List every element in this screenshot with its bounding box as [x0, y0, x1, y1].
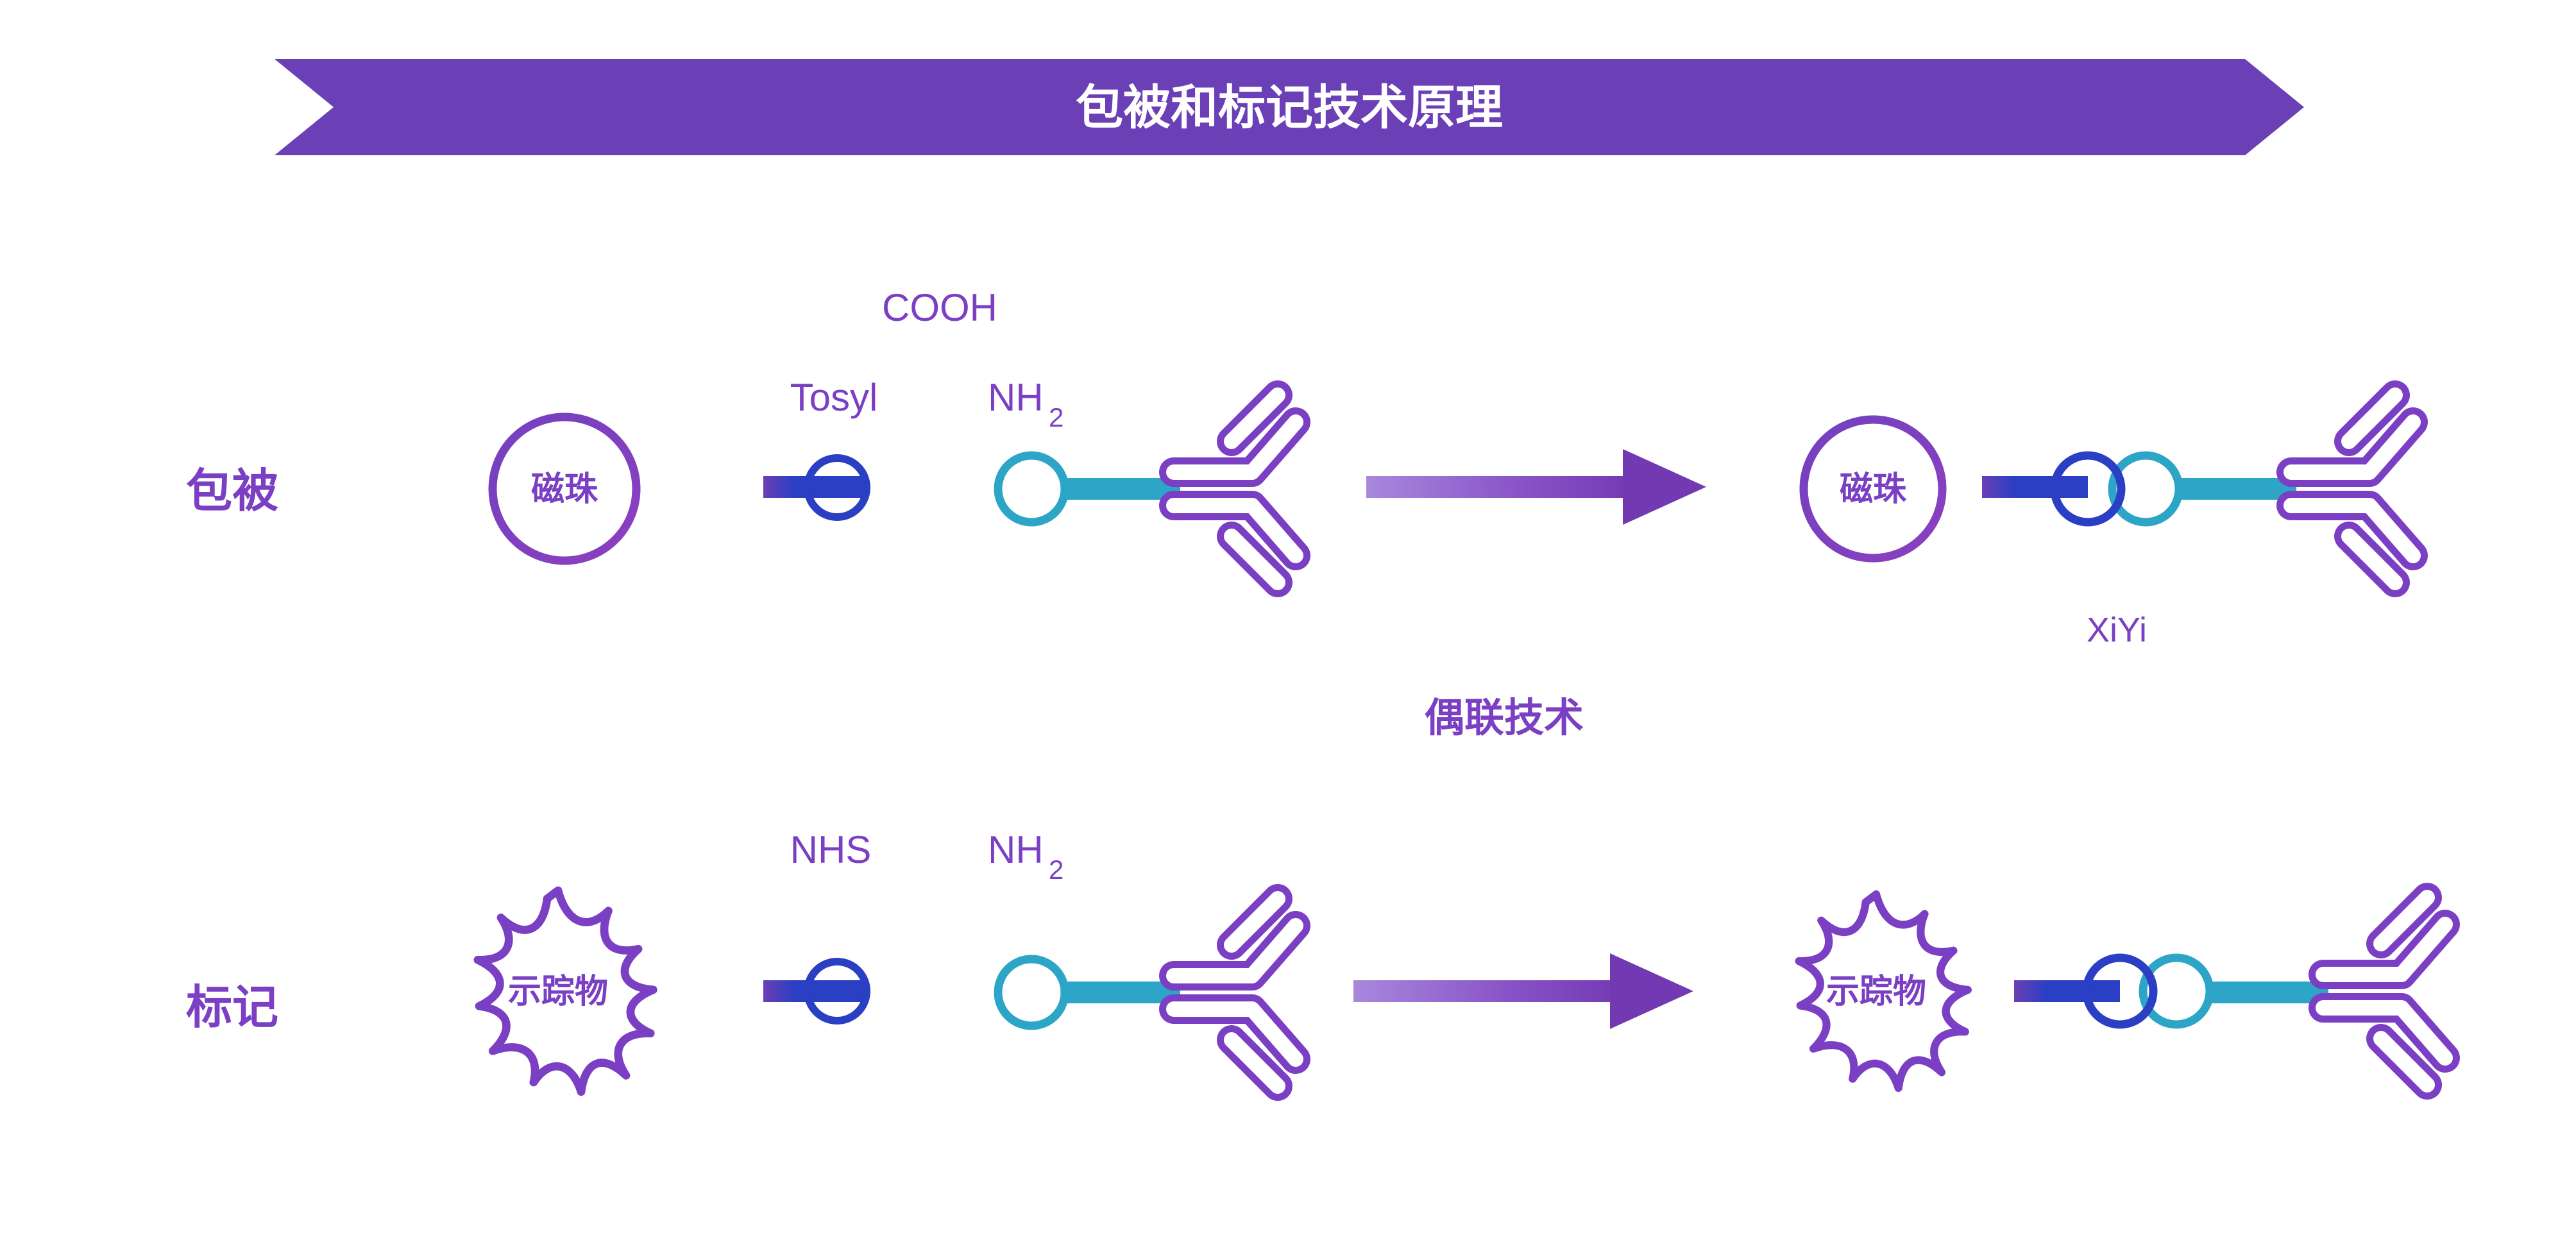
reactant-antibody-group	[998, 395, 1296, 582]
antibody-icon	[1174, 395, 1296, 582]
label-tosyl: Tosyl	[790, 376, 878, 419]
row-labeling: 标记 NHS NH 2 示踪物	[186, 828, 2445, 1092]
reactant-bead-group: 磁珠	[493, 417, 867, 561]
title-banner: 包被和标记技术原理	[275, 59, 2304, 155]
product-bead-text: 磁珠	[1840, 471, 1907, 508]
product-linker-bar	[1982, 476, 2088, 498]
product-tracer-text: 示踪物	[1826, 973, 1926, 1010]
label-nh2-top-sub: 2	[1049, 402, 1063, 432]
coupling-arrow-bottom	[1353, 953, 1693, 1029]
magnetic-bead-text: 磁珠	[531, 471, 598, 508]
label-nh2-top: NH 2	[988, 376, 1063, 432]
arrow-head-bottom	[1610, 953, 1693, 1029]
label-nh2-bottom-main: NH	[988, 828, 1044, 871]
xiyi-label: XiYi	[2087, 611, 2147, 649]
row-label-coating: 包被	[186, 466, 278, 517]
label-nh2-bottom: NH 2	[988, 828, 1063, 885]
label-nh2-top-main: NH	[988, 376, 1044, 419]
product-labeling: 示踪物	[1799, 894, 2445, 1088]
coupling-arrow-top	[1366, 449, 1706, 525]
row-coating: 包被 COOH Tosyl NH 2 磁珠	[186, 286, 2413, 649]
tracer-linker-bar	[763, 980, 866, 1002]
label-nh2-bottom-sub: 2	[1049, 855, 1063, 885]
product-coating: 磁珠 XiYi	[1804, 395, 2413, 649]
nh2-circle	[998, 455, 1065, 522]
antibody-icon-bottom	[1174, 899, 1296, 1086]
arrow-head	[1623, 449, 1706, 525]
banner-title-text: 包被和标记技术原理	[1076, 81, 1503, 134]
tracer-text: 示踪物	[508, 973, 608, 1010]
product-antibody-icon-bottom	[2323, 897, 2445, 1085]
product-antibody-icon	[2291, 395, 2413, 582]
bead-linker-bar	[763, 476, 866, 498]
label-nhs: NHS	[790, 828, 872, 871]
reactant-tracer-group: 示踪物	[478, 890, 867, 1092]
arrow-shaft	[1366, 476, 1636, 498]
diagram-canvas: 包被和标记技术原理 包被 COOH Tosyl NH 2 磁珠	[0, 0, 2576, 1233]
process-label: 偶联技术	[1425, 696, 1584, 740]
product-teal-bar	[2178, 478, 2296, 500]
reactant-antibody-group-bottom	[998, 899, 1296, 1086]
product-linker-bar-bottom	[2014, 980, 2120, 1002]
nh2-circle-bottom	[998, 959, 1065, 1026]
arrow-shaft-bottom	[1353, 980, 1623, 1002]
row-label-labeling: 标记	[186, 982, 278, 1033]
label-cooh: COOH	[882, 286, 997, 329]
principle-diagram: 包被和标记技术原理 包被 COOH Tosyl NH 2 磁珠	[0, 0, 2576, 1233]
product-teal-bar-bottom	[2207, 982, 2328, 1003]
